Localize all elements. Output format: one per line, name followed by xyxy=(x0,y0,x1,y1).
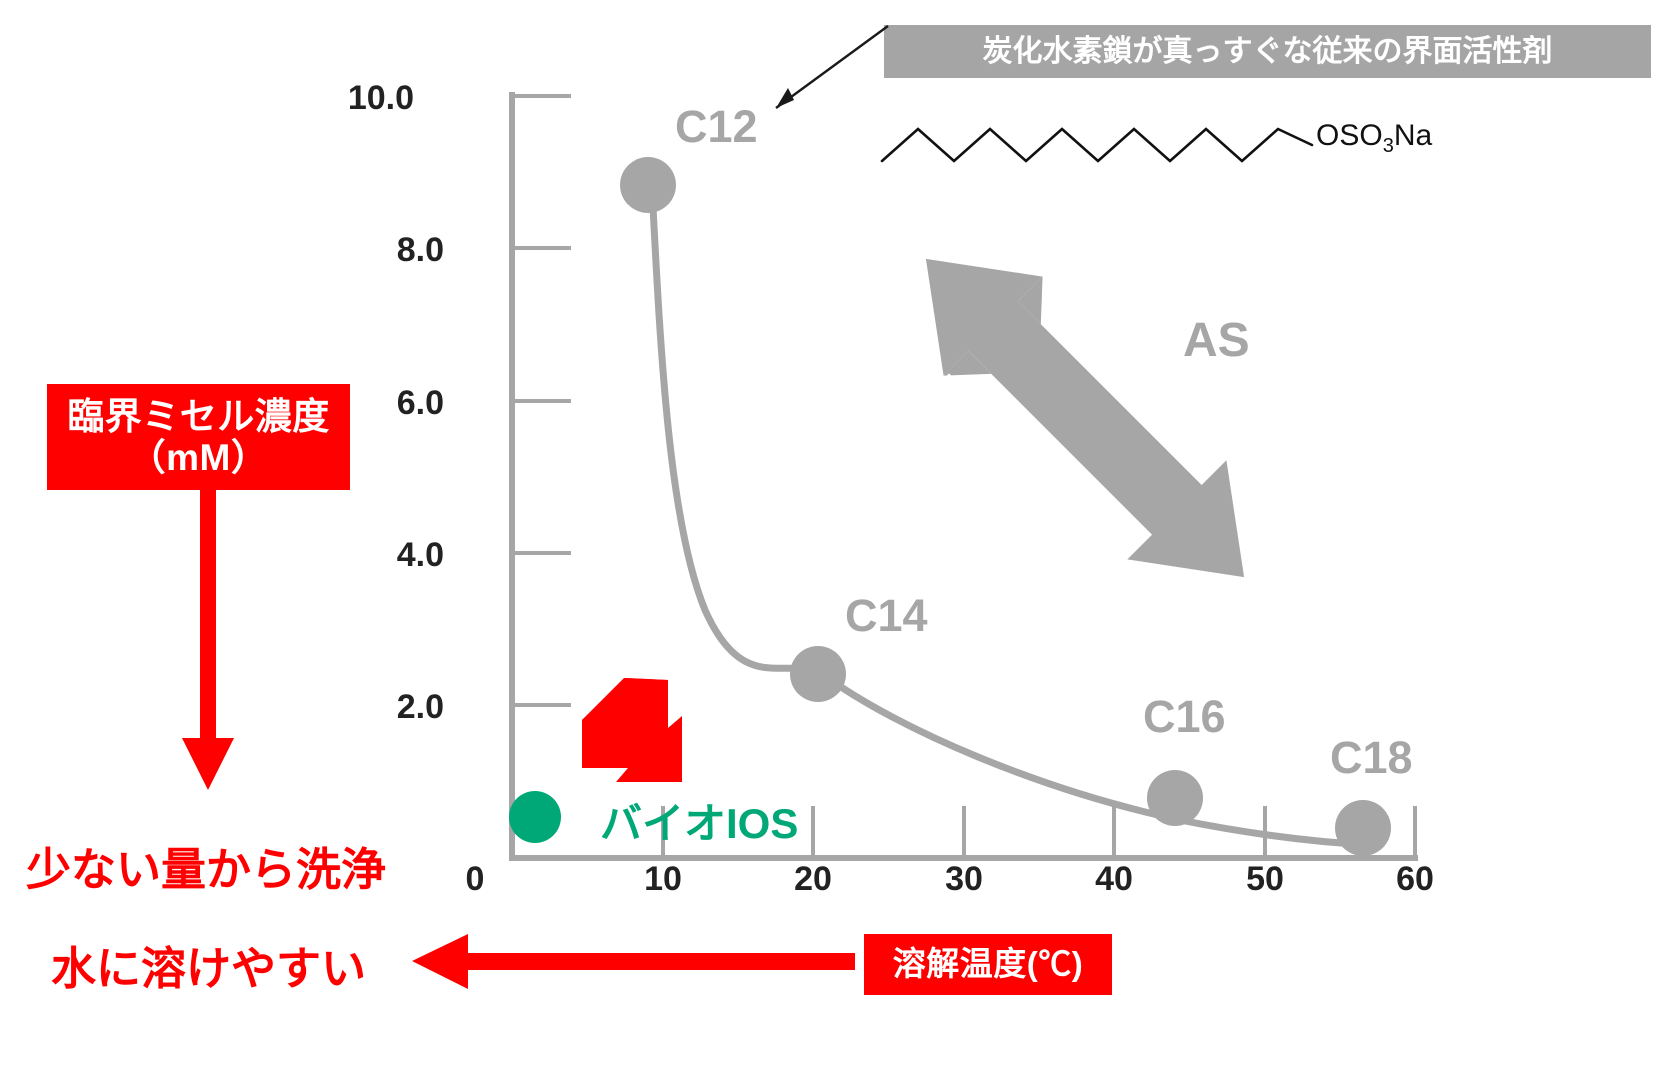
point-label-c16: C16 xyxy=(1143,691,1226,743)
x-tick-label-30: 30 xyxy=(934,860,994,899)
y-tick-label-10: 10.0 xyxy=(304,79,414,118)
point-label-c18: C18 xyxy=(1330,732,1413,784)
data-point-c12 xyxy=(620,157,676,213)
y-tick-label-2: 2.0 xyxy=(334,688,444,727)
chart-plot xyxy=(0,0,1680,1089)
bioios-pointer-arrow xyxy=(570,672,685,792)
bioios-series-label: バイオIOS xyxy=(600,790,798,851)
y-tick-label-6: 6.0 xyxy=(334,384,444,423)
y-axis-ticks xyxy=(512,96,571,705)
x-tick-label-60: 60 xyxy=(1385,860,1445,899)
point-label-c12: C12 xyxy=(675,101,758,153)
y-tick-label-4: 4.0 xyxy=(334,536,444,575)
data-point-c18 xyxy=(1335,800,1391,856)
x-tick-label-40: 40 xyxy=(1084,860,1144,899)
x-tick-label-20: 20 xyxy=(783,860,843,899)
x-tick-label-50: 50 xyxy=(1235,860,1295,899)
slide-canvas: 炭化水素鎖が真っすぐな従来の界面活性剤 OSO3Na 臨界ミセル濃度 （mM） … xyxy=(0,0,1680,1089)
y-tick-label-8: 8.0 xyxy=(334,231,444,270)
data-point-c14 xyxy=(790,646,846,702)
as-trend-curve xyxy=(652,188,1372,845)
x-axis-title-box: 溶解温度(℃) xyxy=(864,934,1112,995)
x-tick-label-0: 0 xyxy=(445,860,505,899)
point-label-c14: C14 xyxy=(845,590,928,642)
x-tick-label-10: 10 xyxy=(633,860,693,899)
data-point-c16 xyxy=(1147,770,1203,826)
data-point-bioios xyxy=(509,791,561,843)
